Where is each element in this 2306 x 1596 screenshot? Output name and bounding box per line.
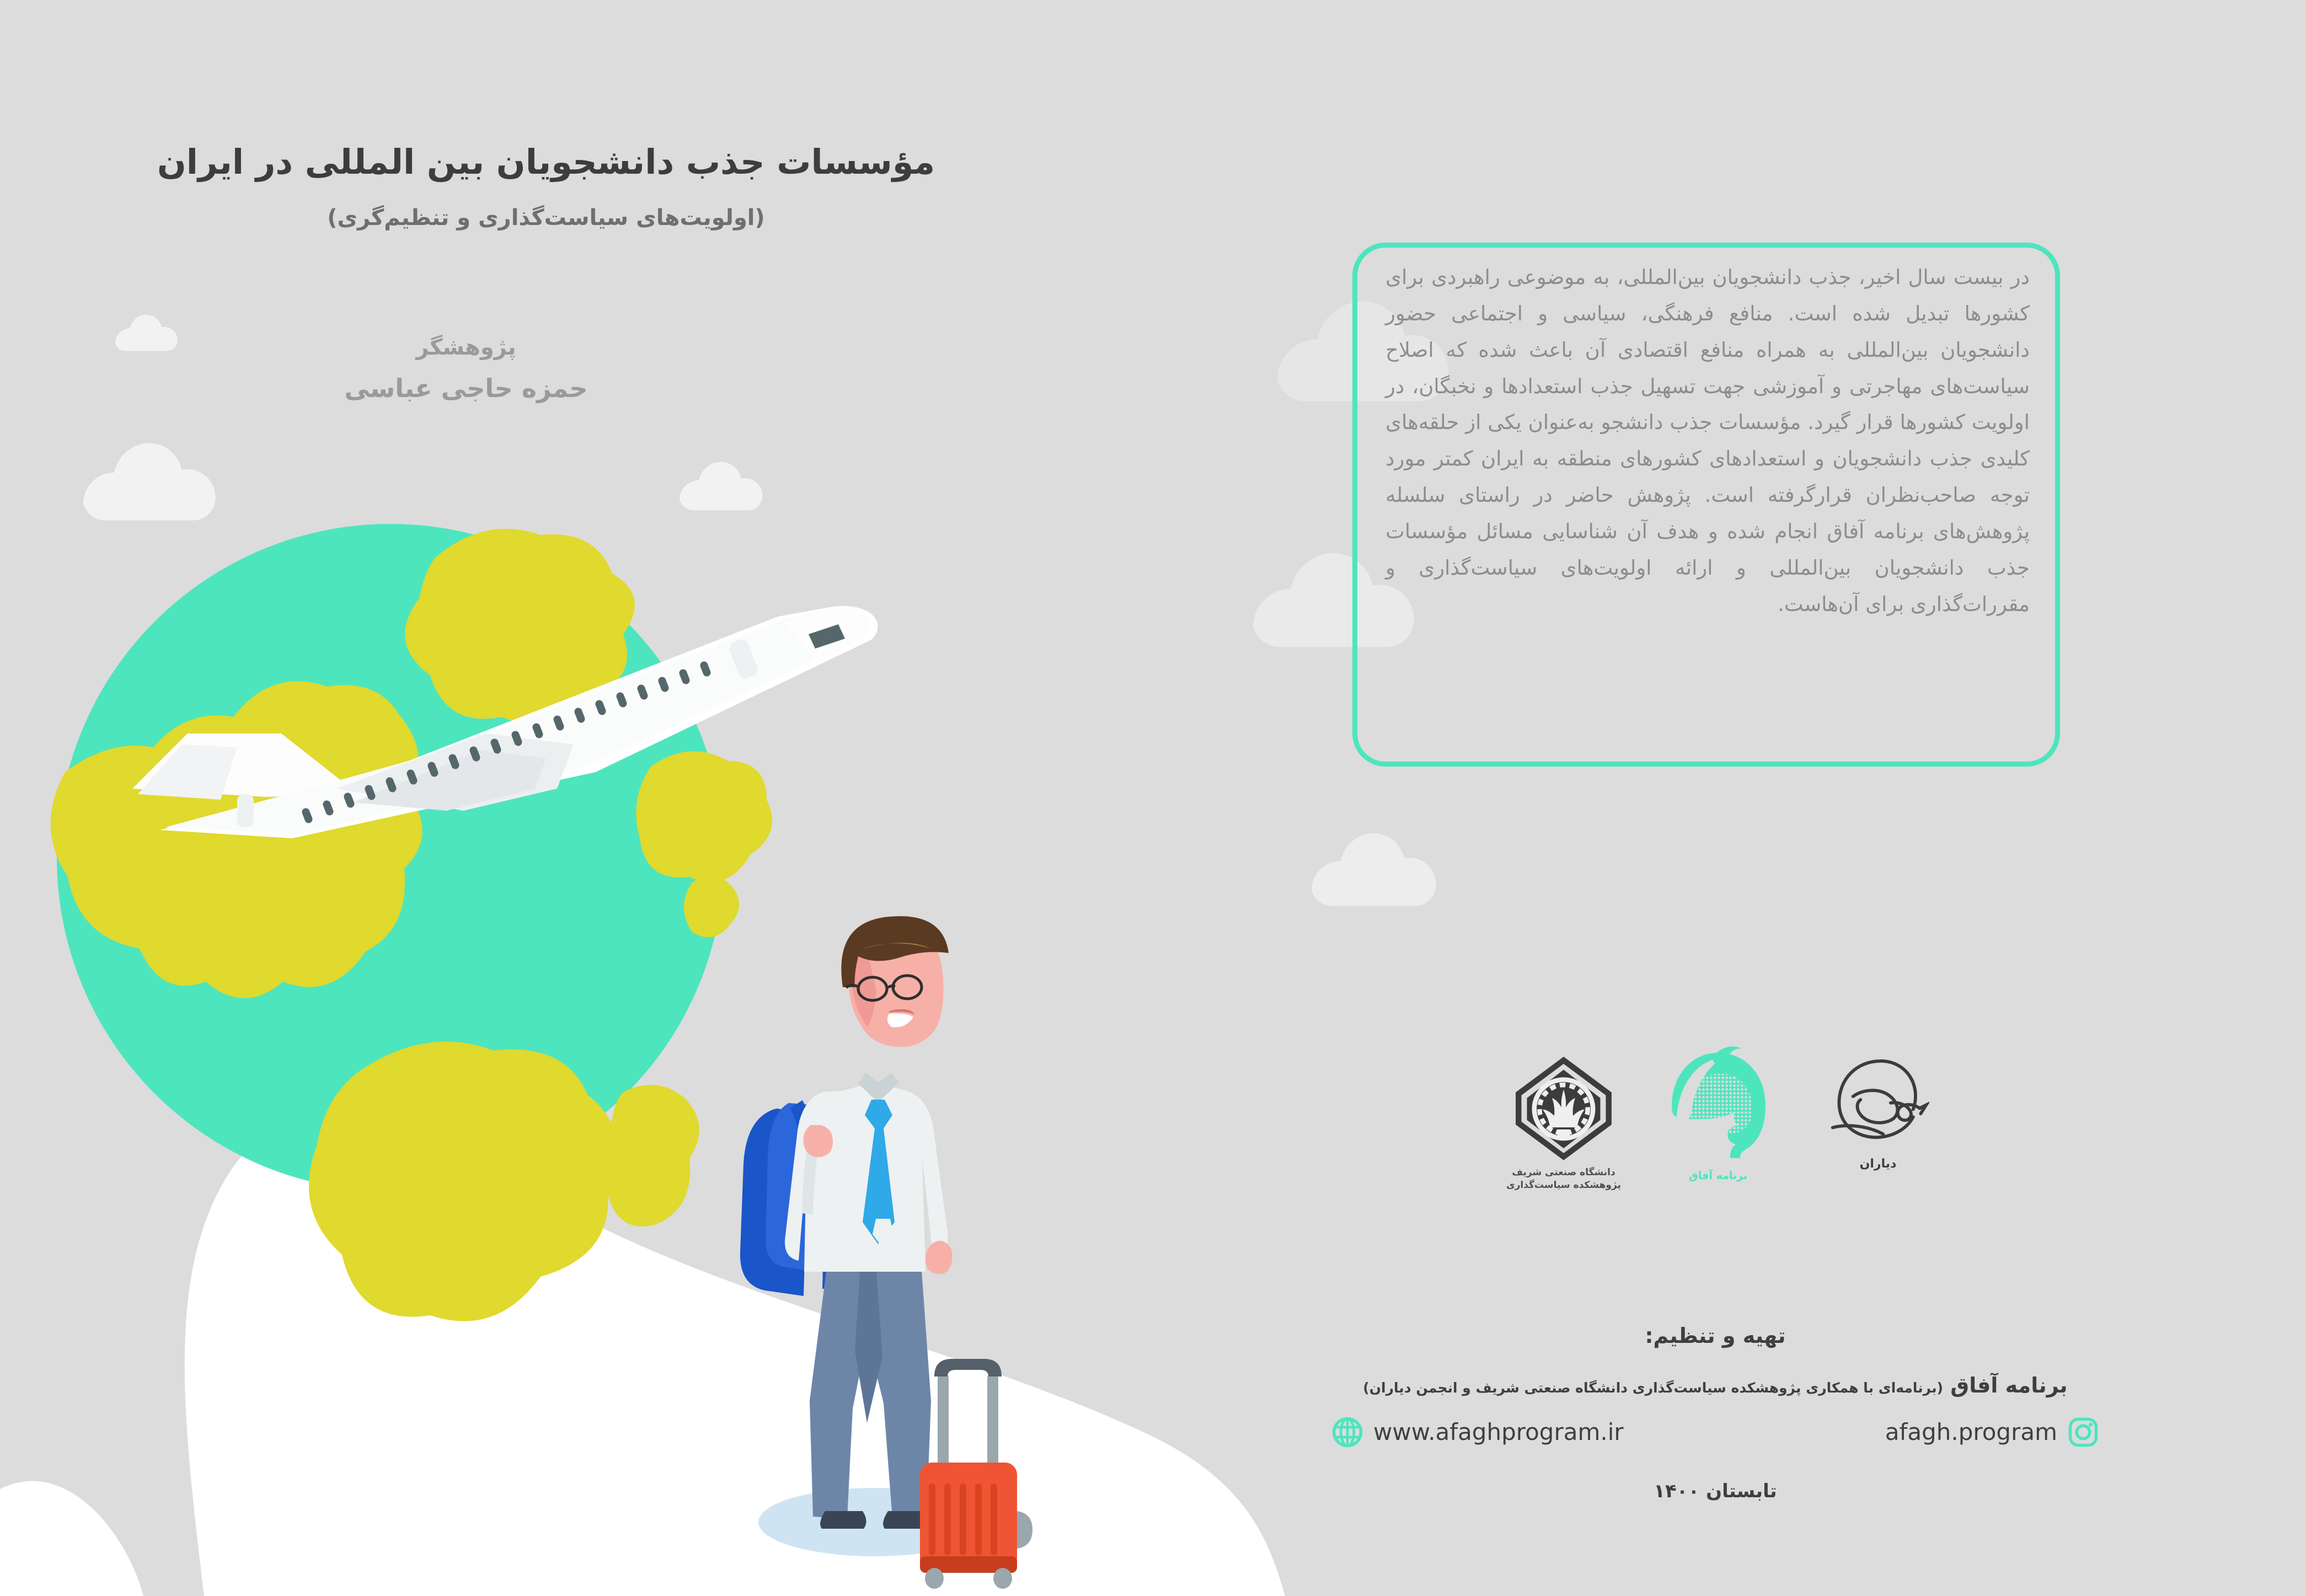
shoe-left: [820, 1511, 866, 1529]
student-illustration: [740, 916, 1032, 1589]
cloud-icon: [680, 462, 762, 510]
footer: تهیه و تنظیم: برنامه آفاق (برنامه‌ای با …: [1324, 1324, 2107, 1502]
cloud-icon: [83, 443, 216, 520]
globe-edge: [57, 524, 724, 1191]
logo-sharif-policy-research-institute: دانشگاه صنعتی شریف پژوهشکده سیاست‌گذاری: [1495, 1056, 1633, 1192]
suitcase: [920, 1359, 1032, 1589]
backpack-strap: [790, 1100, 837, 1289]
afagh-globe-head-logo-icon: [1663, 1045, 1773, 1164]
publication-date: تابستان ۱۴۰۰: [1324, 1480, 2107, 1502]
suitcase-body: [920, 1463, 1017, 1573]
instagram-link[interactable]: afagh.program: [1885, 1416, 2099, 1448]
shoe-right: [883, 1511, 930, 1529]
page-subtitle: (اولویت‌های سیاست‌گذاری و تنظیم‌گری): [116, 203, 976, 232]
airplane-illustration: [132, 606, 878, 838]
footer-org-note: (برنامه‌ای با همکاری پژوهشکده سیاست‌گذار…: [1363, 1380, 1943, 1396]
page-title: مؤسسات جذب دانشجویان بین المللی در ایران: [116, 141, 976, 184]
footer-org-name: برنامه آفاق: [1950, 1373, 2067, 1397]
hair: [841, 916, 949, 987]
footer-org-line: برنامه آفاق (برنامه‌ای با همکاری پژوهشکد…: [1324, 1373, 2107, 1397]
title-block: مؤسسات جذب دانشجویان بین المللی در ایران…: [116, 141, 976, 232]
instagram-icon: [2067, 1416, 2099, 1448]
logo-sharif-caption: دانشگاه صنعتی شریف پژوهشکده سیاست‌گذاری: [1495, 1166, 1633, 1192]
globe-icon: [1331, 1416, 1363, 1448]
globe-continents: [51, 529, 772, 1321]
website-link[interactable]: www.afaghprogram.ir: [1331, 1416, 1624, 1448]
logo-afagh-program: برنامه آفاق: [1649, 1045, 1787, 1183]
cloud-icon: [1312, 833, 1436, 906]
logo-afagh-caption-line1: برنامه آفاق: [1649, 1169, 1787, 1183]
road-path-left: [0, 1481, 143, 1596]
logo-afagh-caption: برنامه آفاق: [1649, 1169, 1787, 1183]
ground-shadow: [758, 1488, 990, 1556]
mouth: [887, 1014, 913, 1027]
logo-diaran-caption: دیاران: [1809, 1156, 1947, 1172]
face: [849, 926, 944, 1047]
hand-right: [925, 1241, 953, 1274]
researcher-name: حمزه حاجی عباسی: [116, 369, 816, 408]
instagram-handle: afagh.program: [1885, 1418, 2057, 1445]
logo-diaran-caption-line1: دیاران: [1809, 1156, 1947, 1172]
sharif-university-logo-icon: [1511, 1056, 1616, 1161]
glasses-icon: [846, 976, 922, 1000]
hand-left: [804, 1125, 833, 1157]
researcher-role-label: پژوهشگر: [116, 331, 816, 364]
researcher-block: پژوهشگر حمزه حاجی عباسی: [116, 331, 816, 408]
diaran-dove-logo-icon: [1827, 1048, 1929, 1153]
globe-illustration: [51, 524, 772, 1321]
logo-row: دانشگاه صنعتی شریف پژوهشکده سیاست‌گذاری: [1484, 1051, 1991, 1238]
logo-sharif-caption-line2: پژوهشکده سیاست‌گذاری: [1495, 1179, 1633, 1192]
globe-sphere: [57, 524, 724, 1191]
footer-prepared-label: تهیه و تنظیم:: [1324, 1324, 2107, 1349]
collar: [858, 1073, 899, 1102]
website-url: www.afaghprogram.ir: [1373, 1418, 1624, 1445]
tie: [863, 1100, 895, 1244]
poster-canvas: مؤسسات جذب دانشجویان بین المللی در ایران…: [0, 0, 2306, 1596]
footer-links: www.afaghprogram.ir afagh.program: [1324, 1416, 2107, 1448]
logo-sharif-caption-line1: دانشگاه صنعتی شریف: [1495, 1166, 1633, 1179]
backpack: [740, 1108, 809, 1296]
road-path: [185, 1119, 1285, 1596]
logo-diaran-association: دیاران: [1809, 1048, 1947, 1172]
shirt: [785, 1082, 948, 1272]
legs: [810, 1263, 931, 1519]
abstract-text: در بیست سال اخیر، جذب دانشجویان بین‌المل…: [1385, 259, 2030, 623]
